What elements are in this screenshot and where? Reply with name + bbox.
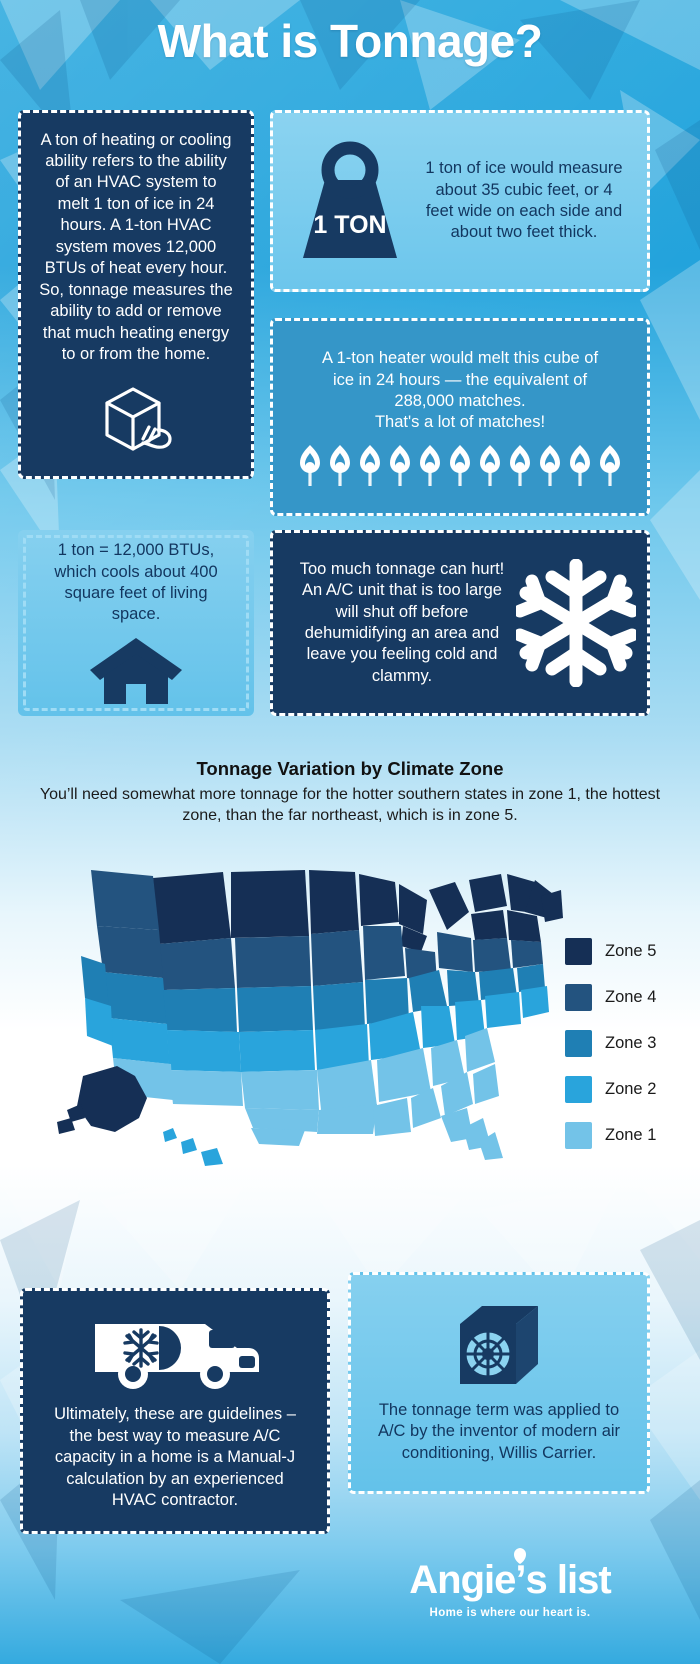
map-legend: Zone 5Zone 4Zone 3Zone 2Zone 1 xyxy=(565,938,695,1168)
legend-swatch xyxy=(565,1076,592,1103)
ac-unit-cube-icon xyxy=(454,1302,544,1390)
card-too-much-text: Too much tonnage can hurt! An A/C unit t… xyxy=(292,559,512,688)
legend-label: Zone 4 xyxy=(605,988,656,1007)
card-matches-line3: 288,000 matches. xyxy=(394,391,525,412)
card-matches-line4: That's a lot of matches! xyxy=(375,412,545,433)
match-flame-icon xyxy=(387,444,413,486)
card-guidelines: Ultimately, these are guidelines – the b… xyxy=(20,1288,330,1534)
page-title: What is Tonnage? xyxy=(0,14,700,68)
map-section-title: Tonnage Variation by Climate Zone xyxy=(0,758,700,780)
legend-swatch xyxy=(565,1030,592,1057)
map-section-subtitle: You’ll need somewhat more tonnage for th… xyxy=(34,785,666,827)
card-btu: 1 ton = 12,000 BTUs, which cools about 4… xyxy=(18,530,254,716)
legend-label: Zone 3 xyxy=(605,1034,656,1053)
legend-label: Zone 2 xyxy=(605,1080,656,1099)
melting-ice-cube-icon xyxy=(95,381,177,459)
legend-item-zone-1: Zone 1 xyxy=(565,1122,695,1149)
house-icon xyxy=(88,636,184,706)
card-matches-line2: ice in 24 hours — the equivalent of xyxy=(333,370,587,391)
card-matches-line1: A 1-ton heater would melt this cube of xyxy=(322,348,598,369)
match-flame-icon xyxy=(537,444,563,486)
match-flame-icon xyxy=(417,444,443,486)
legend-label: Zone 1 xyxy=(605,1126,656,1145)
legend-label: Zone 5 xyxy=(605,942,656,961)
brand-name-part2: s list xyxy=(526,1558,611,1602)
card-btu-text: 1 ton = 12,000 BTUs, which cools about 4… xyxy=(40,540,232,626)
card-ice-volume-text: 1 ton of ice would measure about 35 cubi… xyxy=(420,158,628,244)
legend-swatch xyxy=(565,938,592,965)
card-too-much-tonnage: Too much tonnage can hurt! An A/C unit t… xyxy=(270,530,650,716)
match-flame-icon xyxy=(507,444,533,486)
match-flame-icon xyxy=(477,444,503,486)
brand-name-part1: Angie xyxy=(409,1558,515,1602)
match-row xyxy=(297,444,623,486)
match-flame-icon xyxy=(297,444,323,486)
card-definition-text: A ton of heating or cooling ability refe… xyxy=(39,130,233,366)
hvac-van-icon xyxy=(89,1310,261,1394)
match-flame-icon xyxy=(357,444,383,486)
legend-swatch xyxy=(565,1122,592,1149)
us-climate-zone-map xyxy=(55,860,565,1170)
legend-swatch xyxy=(565,984,592,1011)
legend-item-zone-5: Zone 5 xyxy=(565,938,695,965)
match-flame-icon xyxy=(447,444,473,486)
brand-tagline: Home is where our heart is. xyxy=(340,1607,680,1619)
weight-badge-label: 1 TON xyxy=(313,211,386,239)
card-carrier-text: The tonnage term was applied to A/C by t… xyxy=(370,1400,628,1464)
brand-apostrophe-leaf: ’ xyxy=(515,1560,525,1600)
card-guidelines-text: Ultimately, these are guidelines – the b… xyxy=(42,1404,308,1511)
leaf-icon xyxy=(510,1547,530,1565)
card-carrier: The tonnage term was applied to A/C by t… xyxy=(348,1272,650,1494)
weight-icon: 1 TON xyxy=(286,134,414,268)
legend-item-zone-4: Zone 4 xyxy=(565,984,695,1011)
card-matches: A 1-ton heater would melt this cube of i… xyxy=(270,318,650,516)
map-hawaii xyxy=(163,1128,223,1166)
brand-logo: Angie’s list Home is where our heart is. xyxy=(340,1560,680,1619)
card-definition: A ton of heating or cooling ability refe… xyxy=(18,110,254,479)
map-alaska xyxy=(57,1066,147,1134)
match-flame-icon xyxy=(567,444,593,486)
legend-item-zone-2: Zone 2 xyxy=(565,1076,695,1103)
infographic-page: What is Tonnage? A ton of heating or coo… xyxy=(0,0,700,1664)
match-flame-icon xyxy=(327,444,353,486)
legend-item-zone-3: Zone 3 xyxy=(565,1030,695,1057)
snowflake-icon xyxy=(516,559,636,687)
card-ice-volume: 1 TON 1 ton of ice would measure about 3… xyxy=(270,110,650,292)
match-flame-icon xyxy=(597,444,623,486)
